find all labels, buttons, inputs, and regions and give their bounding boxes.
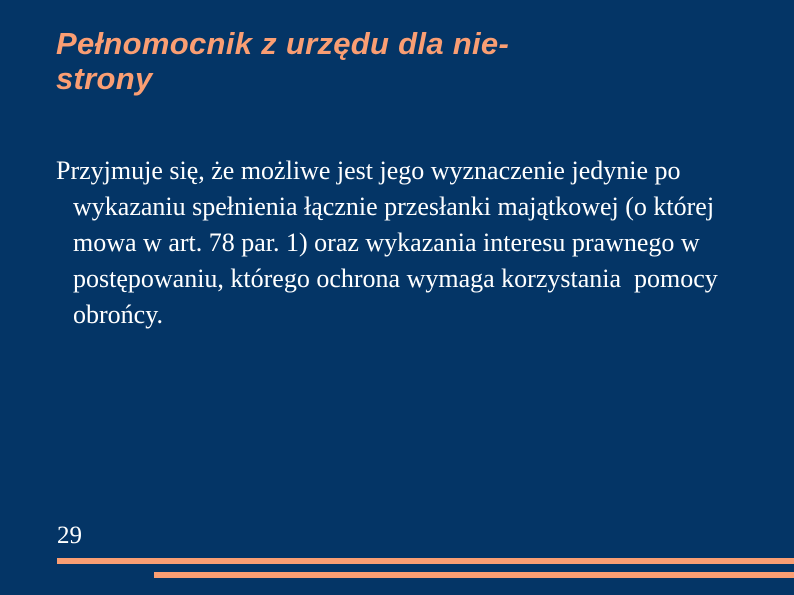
accent-bar-top <box>57 558 794 564</box>
slide-title: Pełnomocnik z urzędu dla nie- strony <box>56 26 656 96</box>
slide-body-text: Przyjmuje się, że możliwe jest jego wyzn… <box>56 153 773 333</box>
accent-bar-bottom <box>154 572 794 578</box>
page-number: 29 <box>57 522 82 550</box>
slide-canvas: Pełnomocnik z urzędu dla nie- strony Prz… <box>0 0 794 595</box>
